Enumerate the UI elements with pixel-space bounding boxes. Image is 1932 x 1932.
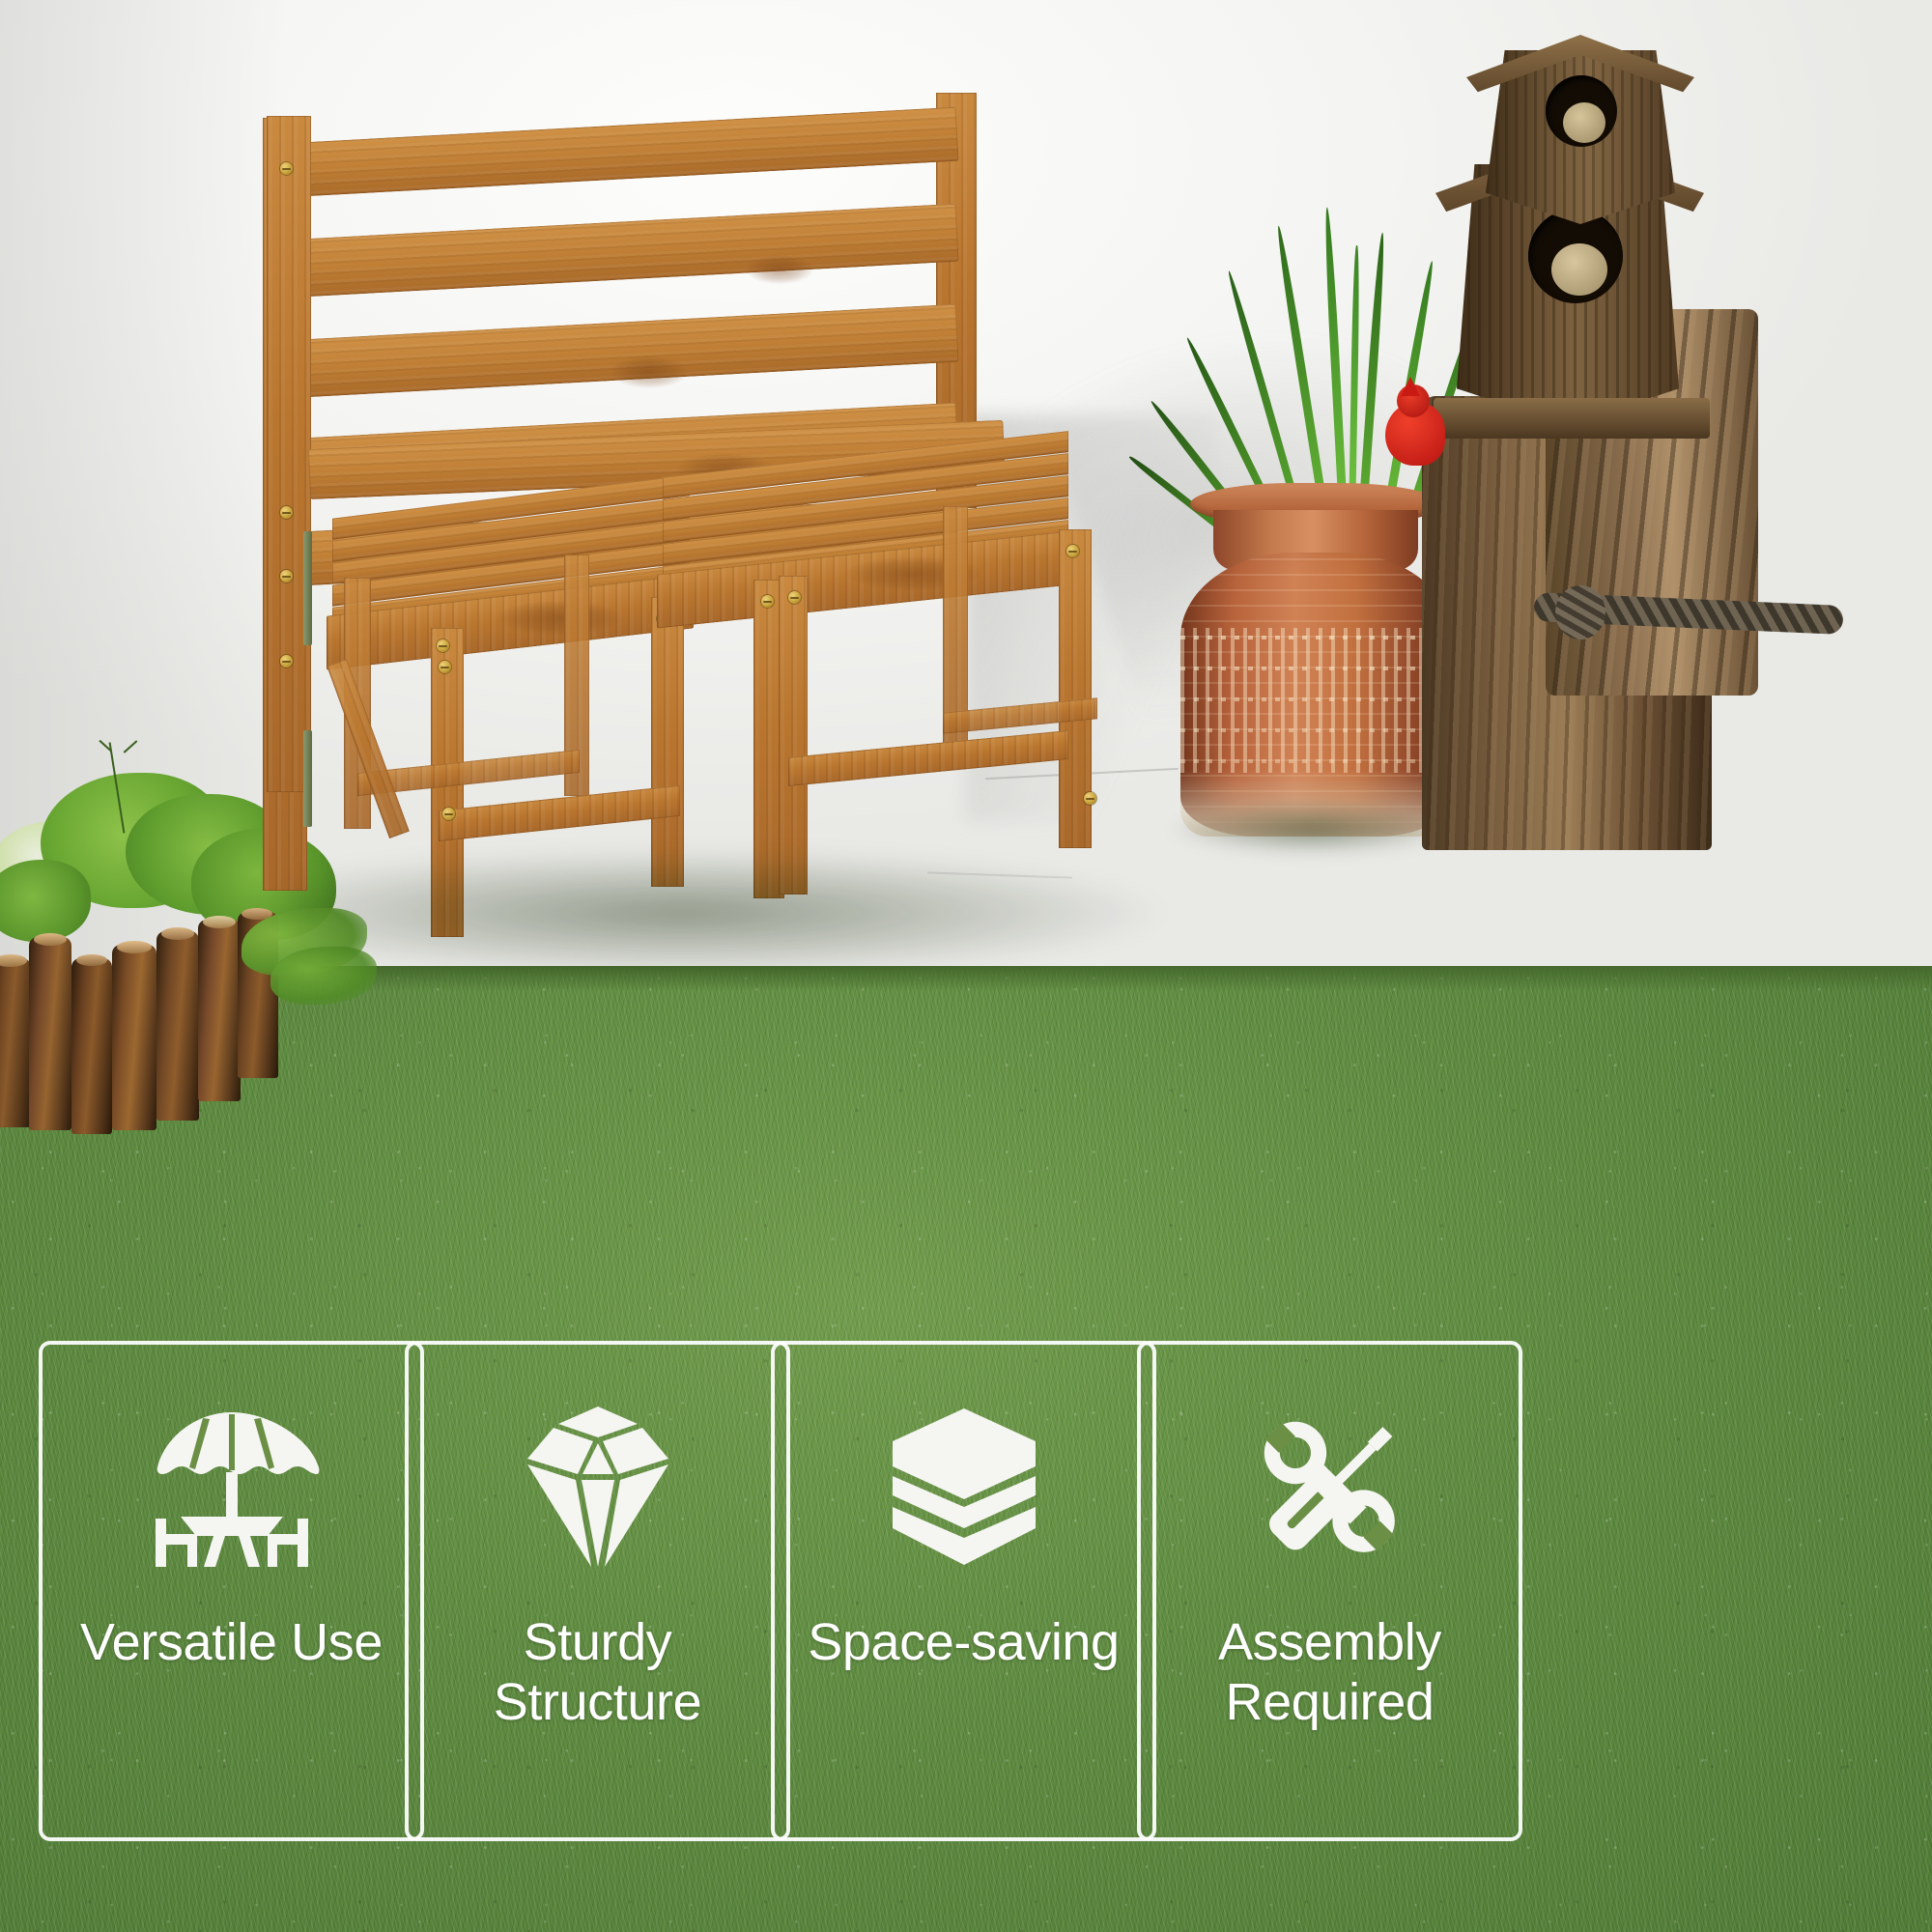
hinge-screw (280, 655, 293, 668)
stool-screw (1084, 792, 1096, 805)
birdhouse-lower-perch (1551, 243, 1607, 296)
furniture-ground-shadow (290, 850, 1159, 976)
feature-card-label: Assembly Required (1156, 1613, 1504, 1732)
feature-card-assembly-required[interactable]: Assembly Required (1137, 1341, 1522, 1841)
log-cut-top (203, 916, 236, 928)
red-cardinal-bird (1381, 384, 1451, 469)
log-post (0, 958, 31, 1127)
birdhouse-decoration (1362, 19, 1932, 840)
stool-leg (779, 576, 808, 895)
stacked-layers-icon (889, 1405, 1039, 1571)
log-cut-top (76, 954, 107, 966)
wrench-screwdriver-icon (1247, 1405, 1413, 1571)
stool-screw (439, 661, 451, 673)
log-post (198, 920, 241, 1101)
log-cut-top (34, 933, 67, 946)
log-post (156, 931, 199, 1121)
right-stool (653, 425, 1136, 908)
rope-knot (1555, 585, 1605, 639)
feature-cards: Versatile Use (0, 1341, 1932, 1843)
stool-screw (442, 808, 455, 820)
metal-hinge (303, 730, 312, 827)
log-cut-top (161, 927, 194, 940)
log-post (71, 958, 112, 1134)
diamond-icon (522, 1405, 674, 1571)
birdhouse-shelf (1434, 398, 1710, 439)
stool-screw (761, 595, 774, 608)
product-feature-image: Versatile Use (0, 0, 1932, 1932)
feature-card-label: Versatile Use (58, 1613, 406, 1673)
feature-card-label: Space-saving (790, 1613, 1138, 1673)
feature-card-label: Sturdy Structure (424, 1613, 772, 1732)
stool-screw (788, 591, 801, 604)
hinge-screw (280, 570, 293, 582)
feature-card-sturdy-structure[interactable]: Sturdy Structure (405, 1341, 790, 1841)
log-post (112, 945, 156, 1130)
wood-knot (746, 255, 813, 284)
stool-stretcher (788, 730, 1068, 786)
patio-umbrella-table-icon (144, 1405, 320, 1571)
stool-stretcher (439, 785, 680, 841)
backrest-slat (290, 204, 958, 298)
log-post (29, 937, 71, 1130)
log-cut-top (117, 941, 152, 953)
stool-screw (437, 639, 449, 652)
wood-knot (611, 355, 688, 388)
backrest-slat (290, 107, 958, 197)
feature-card-versatile-use[interactable]: Versatile Use (39, 1341, 424, 1841)
feature-card-space-saving[interactable]: Space-saving (771, 1341, 1156, 1841)
stool-screw (1066, 545, 1079, 557)
birdhouse-upper-perch (1563, 102, 1605, 143)
hinge-screw (280, 162, 293, 175)
